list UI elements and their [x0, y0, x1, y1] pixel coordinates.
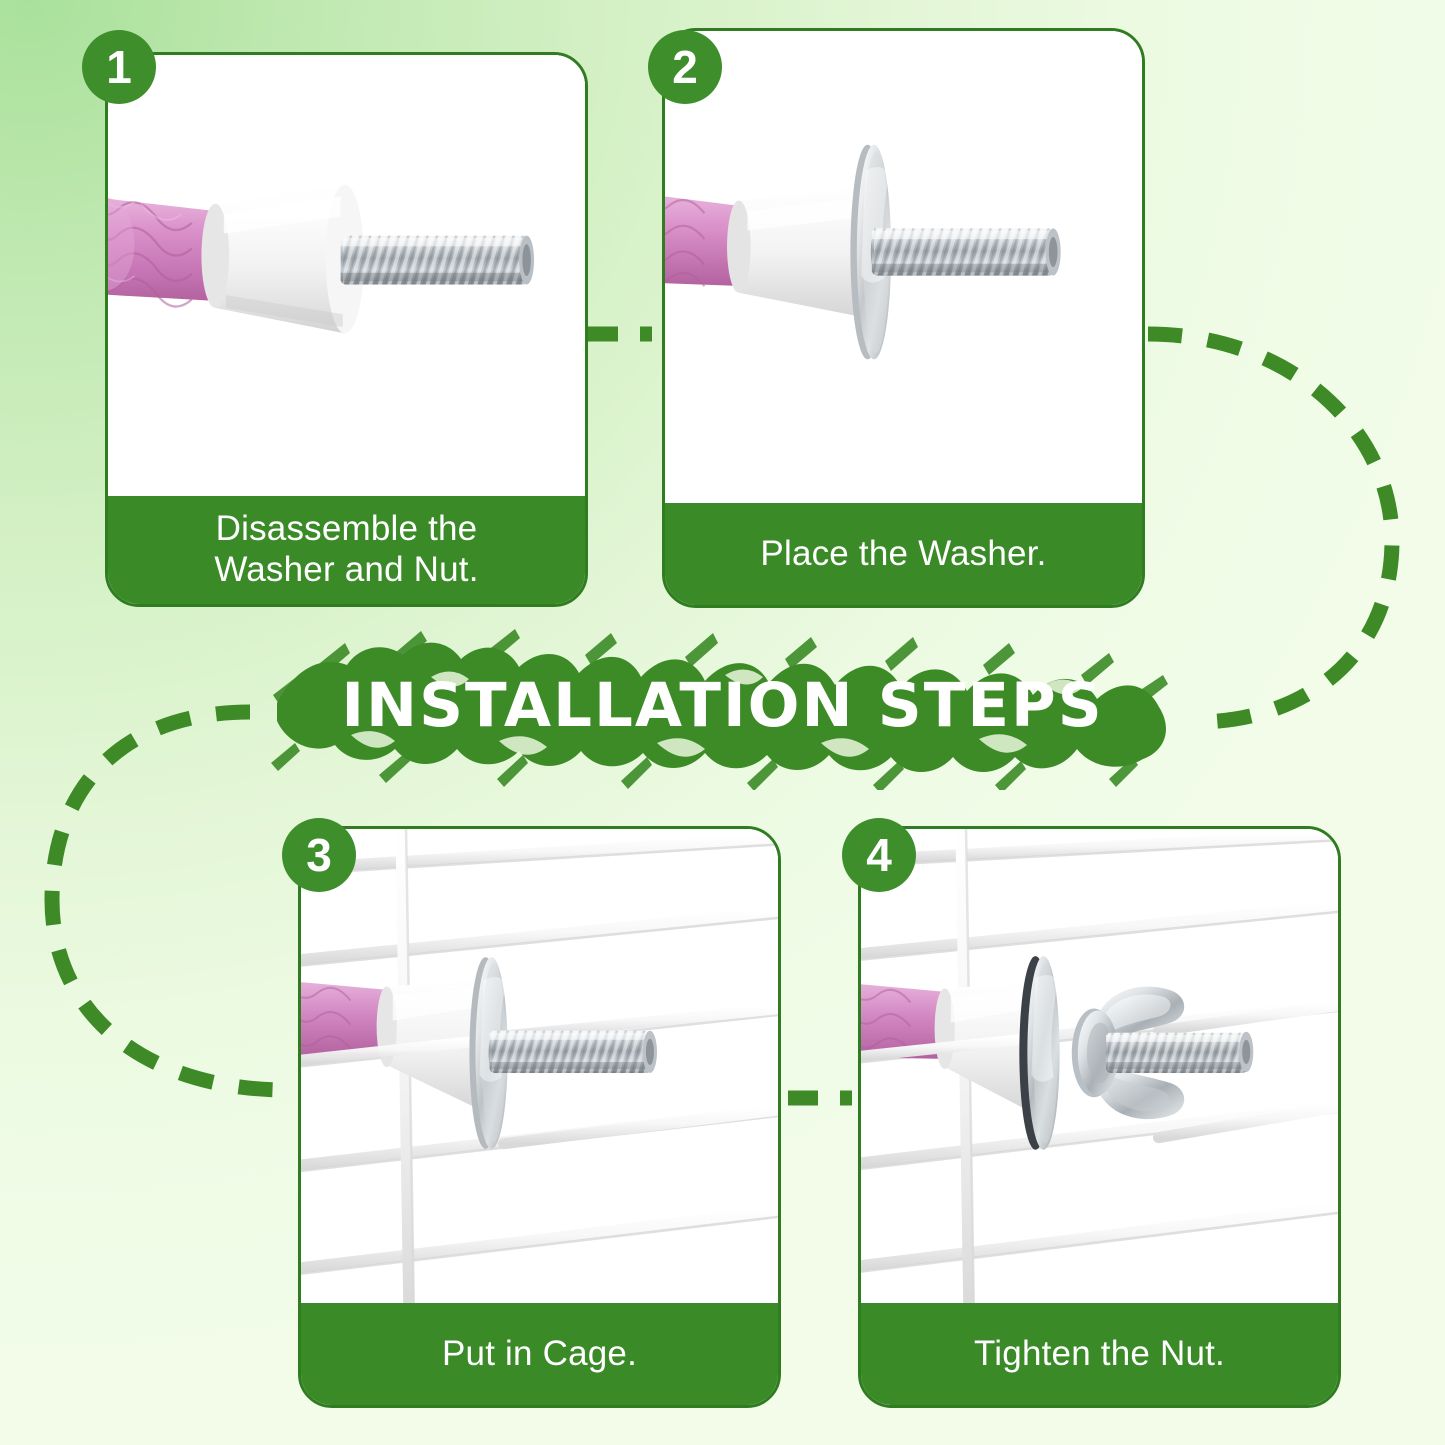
step-card-1[interactable]: Disassemble the Washer and Nut.: [105, 52, 588, 607]
step-1-caption: Disassemble the Washer and Nut.: [108, 496, 585, 604]
step-card-3[interactable]: Put in Cage.: [298, 826, 781, 1408]
step-badge-4-number: 4: [866, 832, 892, 878]
installation-steps-infographic: Disassemble the Washer and Nut. 1: [0, 0, 1445, 1445]
step-card-2[interactable]: Place the Washer.: [662, 28, 1145, 608]
connector-title-to-step3: [52, 712, 288, 1090]
step-badge-1-number: 1: [106, 44, 132, 90]
step-badge-3: 3: [282, 818, 356, 892]
washer-disc: [1019, 956, 1059, 1150]
step-badge-2-number: 2: [672, 44, 698, 90]
page-title: INSTALLATION STEPS: [341, 670, 1103, 741]
step-card-4[interactable]: Tighten the Nut.: [858, 826, 1341, 1408]
step-3-image: [301, 829, 778, 1303]
step-3-caption: Put in Cage.: [301, 1303, 778, 1405]
step-badge-2: 2: [648, 30, 722, 104]
step-4-image: [861, 829, 1338, 1303]
threaded-bolt: [1106, 1032, 1253, 1073]
threaded-bolt: [490, 1031, 657, 1073]
step-2-caption: Place the Washer.: [665, 503, 1142, 605]
threaded-bolt: [341, 236, 534, 285]
step-badge-3-number: 3: [306, 832, 332, 878]
step-4-caption: Tighten the Nut.: [861, 1303, 1338, 1405]
threaded-bolt: [872, 228, 1061, 275]
title-banner: INSTALLATION STEPS: [255, 625, 1190, 790]
step-badge-1: 1: [82, 30, 156, 104]
step-2-image: [665, 31, 1142, 503]
step-1-image: [108, 55, 585, 496]
step-badge-4: 4: [842, 818, 916, 892]
